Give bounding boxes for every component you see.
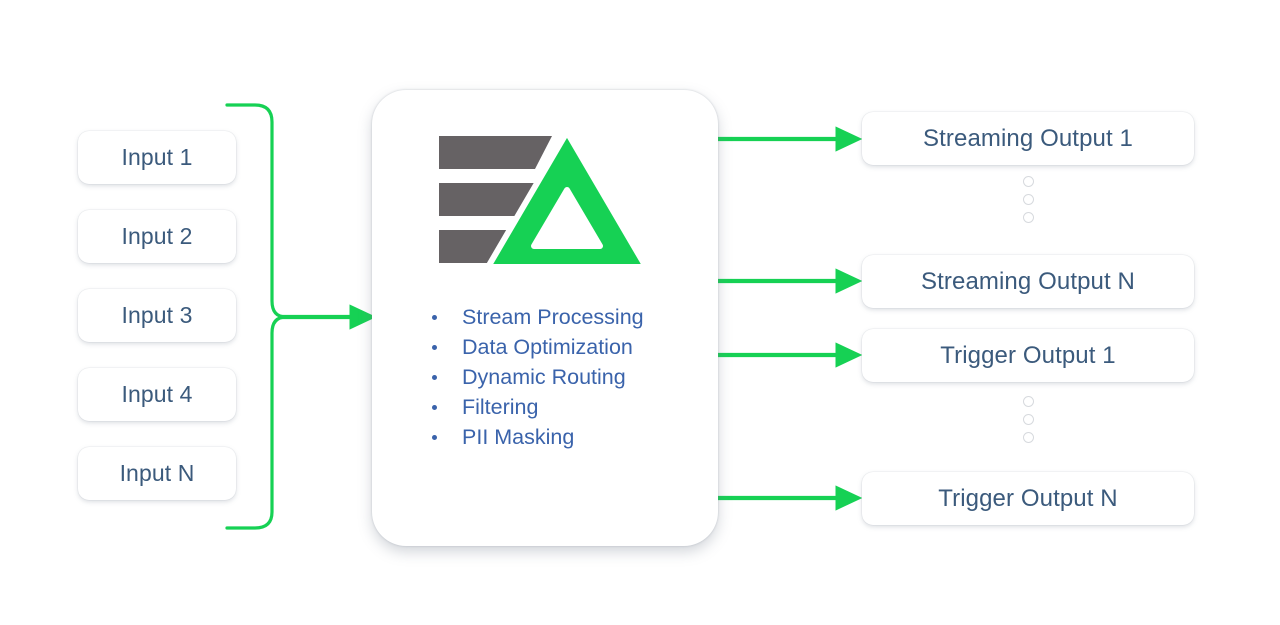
processor-feature-list: Stream Processing Data Optimization Dyna… (424, 302, 714, 452)
input-card-label: Input 4 (121, 381, 192, 408)
ellipsis-dot (1023, 432, 1034, 443)
feature-item: Data Optimization (424, 332, 714, 362)
input-card-4[interactable]: Input 4 (78, 368, 236, 421)
bullet-icon (432, 315, 437, 320)
feature-label: PII Masking (462, 425, 574, 449)
feature-item: Stream Processing (424, 302, 714, 332)
bullet-icon (432, 435, 437, 440)
ellipsis-dot (1023, 396, 1034, 407)
input-card-label: Input 1 (121, 144, 192, 171)
input-card-label: Input N (120, 460, 195, 487)
input-card-label: Input 3 (121, 302, 192, 329)
ellipsis-dot (1023, 212, 1034, 223)
streaming-outputs-ellipsis-icon (1021, 176, 1035, 223)
input-card-n[interactable]: Input N (78, 447, 236, 500)
output-card-streaming-1[interactable]: Streaming Output 1 (862, 112, 1194, 165)
feature-item: Dynamic Routing (424, 362, 714, 392)
processor-panel[interactable]: Stream Processing Data Optimization Dyna… (372, 90, 718, 546)
output-card-label: Streaming Output 1 (923, 125, 1133, 153)
bullet-icon (432, 405, 437, 410)
bullet-icon (432, 375, 437, 380)
output-card-trigger-n[interactable]: Trigger Output N (862, 472, 1194, 525)
ellipsis-dot (1023, 176, 1034, 187)
ellipsis-dot (1023, 414, 1034, 425)
trigger-outputs-ellipsis-icon (1021, 396, 1035, 443)
input-card-2[interactable]: Input 2 (78, 210, 236, 263)
feature-item: PII Masking (424, 422, 714, 452)
feature-label: Stream Processing (462, 305, 644, 329)
feature-label: Filtering (462, 395, 538, 419)
diagram-canvas: Input 1 Input 2 Input 3 Input 4 Input N … (0, 0, 1280, 625)
output-card-trigger-1[interactable]: Trigger Output 1 (862, 329, 1194, 382)
ellipsis-dot (1023, 194, 1034, 205)
feature-label: Dynamic Routing (462, 365, 626, 389)
bullet-icon (432, 345, 437, 350)
output-card-streaming-n[interactable]: Streaming Output N (862, 255, 1194, 308)
output-card-label: Trigger Output 1 (940, 342, 1115, 370)
feature-item: Filtering (424, 392, 714, 422)
output-card-label: Trigger Output N (938, 485, 1117, 513)
input-card-label: Input 2 (121, 223, 192, 250)
stream-processor-logo-icon (434, 128, 646, 270)
input-card-1[interactable]: Input 1 (78, 131, 236, 184)
input-card-3[interactable]: Input 3 (78, 289, 236, 342)
output-card-label: Streaming Output N (921, 268, 1135, 296)
feature-label: Data Optimization (462, 335, 633, 359)
